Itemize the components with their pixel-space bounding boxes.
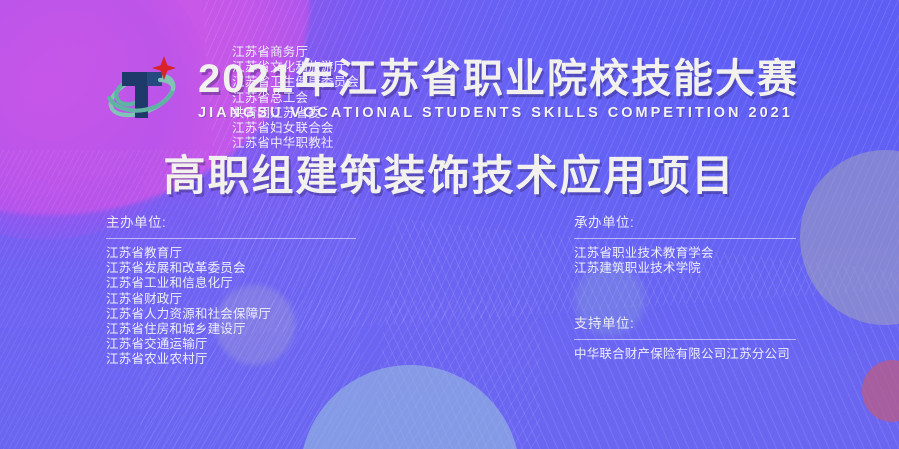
organizer-list-item: 江苏建筑职业技术学院	[574, 261, 796, 276]
organizer-list-item: 江苏省财政厅	[106, 292, 336, 307]
supporting-organizers-section: 支持单位: 中华联合财产保险有限公司江苏分公司	[574, 315, 796, 362]
supporting-organizers-list: 中华联合财产保险有限公司江苏分公司	[574, 347, 796, 362]
executing-organizers-divider	[574, 238, 796, 239]
organizer-list-item: 江苏省商务厅	[232, 45, 462, 60]
host-organizers-heading: 主办单位:	[106, 214, 356, 238]
supporting-organizers-divider	[574, 339, 796, 340]
executing-organizers-heading: 承办单位:	[574, 214, 796, 238]
jiangsu-skills-competition-logo-icon	[100, 54, 184, 126]
organizer-list-item: 江苏省中华职教社	[232, 136, 462, 151]
host-organizers-column-1: 江苏省教育厅江苏省发展和改革委员会江苏省工业和信息化厅江苏省财政厅江苏省人力资源…	[106, 246, 336, 368]
organizer-list-item: 江苏省文化和旅游厅	[232, 60, 462, 75]
executing-organizers-list: 江苏省职业技术教育学会江苏建筑职业技术学院	[574, 246, 796, 276]
organizer-list-item: 江苏省妇女联合会	[232, 121, 462, 136]
organizer-list-item: 江苏省人力资源和社会保障厅	[106, 307, 336, 322]
organizer-list-item: 中华联合财产保险有限公司江苏分公司	[574, 347, 796, 362]
competition-banner: 2021年江苏省职业院校技能大赛 JIANGSU VOCATIONAL STUD…	[0, 0, 899, 449]
organizer-list-item: 江苏省卫生健康委员会	[232, 75, 462, 90]
organizer-list-item: 江苏省发展和改革委员会	[106, 261, 336, 276]
host-organizers-section: 主办单位: 江苏省教育厅江苏省发展和改革委员会江苏省工业和信息化厅江苏省财政厅江…	[106, 214, 356, 368]
organizer-list-item: 江苏省农业农村厅	[106, 352, 336, 367]
organizer-list-item: 共青团江苏省委	[232, 106, 462, 121]
organizer-list-item: 江苏省住房和城乡建设厅	[106, 322, 336, 337]
host-organizers-divider	[106, 238, 356, 239]
executing-organizers-section: 承办单位: 江苏省职业技术教育学会江苏建筑职业技术学院	[574, 214, 796, 276]
organizer-list-item: 江苏省教育厅	[106, 246, 336, 261]
host-organizers-column-2: 江苏省商务厅江苏省文化和旅游厅江苏省卫生健康委员会江苏省总工会共青团江苏省委江苏…	[232, 45, 462, 151]
organizer-list-item: 江苏省工业和信息化厅	[106, 276, 336, 291]
supporting-organizers-heading: 支持单位:	[574, 315, 796, 339]
organizer-list-item: 江苏省交通运输厅	[106, 337, 336, 352]
organizer-list-item: 江苏省总工会	[232, 91, 462, 106]
organizer-list-item: 江苏省职业技术教育学会	[574, 246, 796, 261]
